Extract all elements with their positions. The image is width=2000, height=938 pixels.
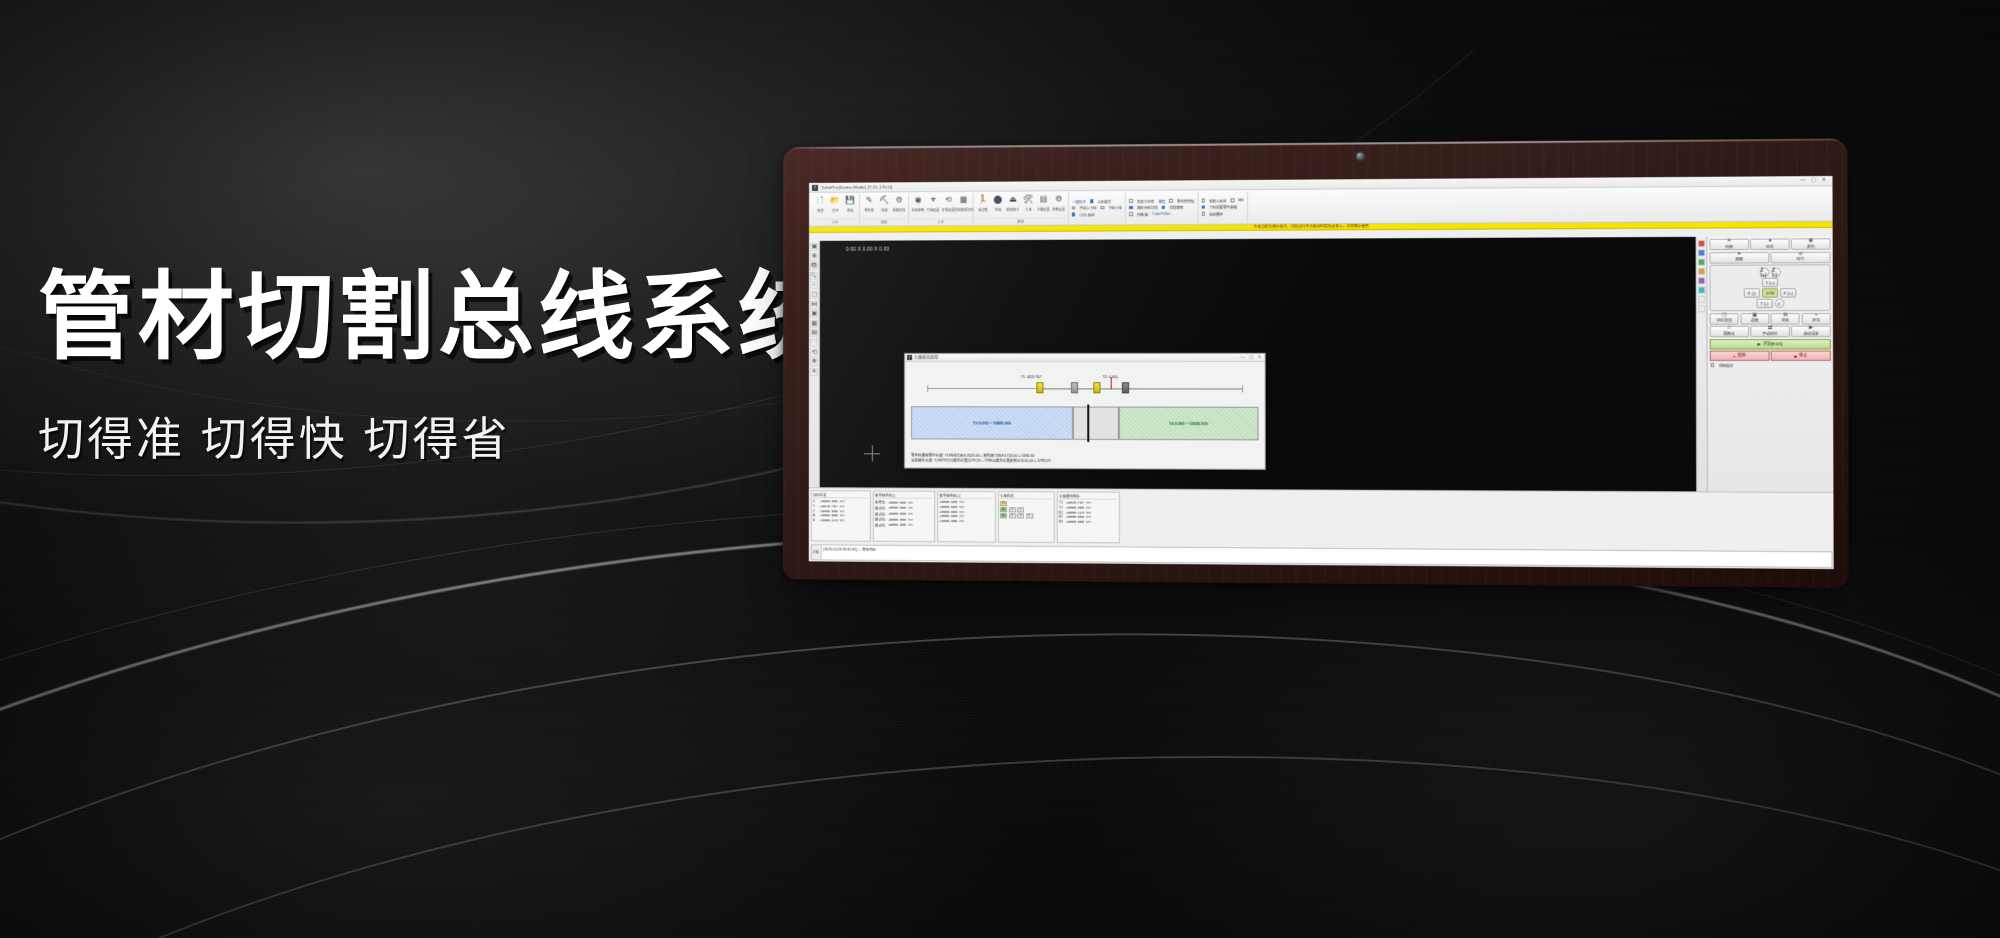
lamp-row: B1 4 C — [1000, 507, 1052, 512]
jog-row-yplus[interactable]: Y (+) — [1762, 278, 1778, 287]
gear-icon: ⚙ — [893, 194, 905, 206]
monitor-screen: T TubePro(Demo Mode) [7.21.170.0] — ▢ ✕ … — [809, 176, 1834, 569]
dialog-window-controls[interactable]: — ▢ ✕ — [1241, 355, 1263, 359]
note-line-2: 当前留针长度: Y1到Y9刀口截负位置2279.23 + Y9到山截负位置刻划从… — [911, 458, 1259, 465]
option-label: 了料后要零件使能 — [1209, 204, 1237, 209]
rotate-icon[interactable]: ⟲ — [810, 349, 818, 357]
machine-position-group: 加料位置 X +0000.000 mm Y +9620.767 mm — [810, 490, 870, 542]
axis-unit: mm — [1086, 506, 1091, 510]
ribbon-item-label: 排样 — [881, 208, 887, 213]
ribbon-item-label: 卡盘设置 — [1037, 207, 1050, 212]
axis-unit: mm — [1086, 501, 1091, 505]
jog-x-plus-button[interactable]: X (+) — [1780, 288, 1796, 297]
ribbon-option-row[interactable]: 尾料余料切割 切割跟随 — [1129, 205, 1194, 210]
checkbox-remnant-cut[interactable] — [1129, 206, 1132, 209]
ribbon-item-label: 零件库 — [864, 208, 873, 213]
ribbon-group-edit: ✎ 零件库 ⛏ 排样 ⚙ 排版切割 编辑 — [860, 193, 909, 224]
status-row: 原点位: +0000.000 mm — [875, 506, 932, 511]
auto-seek-icon: ▶ — [1809, 326, 1813, 331]
status-row: 参考位: +0000.000 mm — [875, 500, 932, 505]
ribbon-option-row[interactable]: 开单/板 TubePCNet — [1129, 211, 1194, 216]
button-label: 定位切割 — [1716, 319, 1731, 324]
axis-value: +0000.000 — [939, 519, 957, 523]
follow-button-row[interactable]: ✦ 跟随 ≋ 吹气 — [1709, 251, 1830, 263]
checkbox-ccd-calib[interactable] — [1072, 213, 1075, 216]
button-label: 跟随 — [1735, 258, 1743, 263]
mode-button-row[interactable]: ◳ 定位切割 ▣ 边框 ⊞ 空走 — [1710, 313, 1831, 325]
log-tag: 诊断 — [811, 545, 821, 559]
button-label: 自动寻参 — [1803, 332, 1818, 337]
axis-label: B — [813, 518, 818, 522]
option-label: 下料小车 — [1108, 205, 1122, 210]
axis-unit: mm — [908, 506, 913, 510]
axis-unit: mm — [908, 501, 913, 505]
axis-value: +9620.767 — [1066, 501, 1084, 505]
lamp-row: B2 4 3 C — [1000, 513, 1052, 518]
ribbon-frame-button[interactable]: 🏃 走边框 — [976, 194, 990, 212]
axis-value: +0000.000 — [1066, 506, 1084, 510]
cut-line-indicator — [1087, 404, 1089, 441]
dialog-body: Y1: 4620.767 Y2: 0.000 Y1:0.000 ~ 12885.… — [905, 362, 1265, 469]
checkbox-load-mode[interactable] — [1090, 199, 1093, 202]
axis-label: A — [813, 513, 818, 517]
ribbon-partlib-button[interactable]: ✎ 零件库 — [862, 195, 876, 213]
left-toolbar[interactable]: ▣ ✥ 👁 🔍 ○ ▢ ⋈ ▣ ▦ ▤ 🗀 ⟲ ✥ ✛ — [809, 241, 820, 487]
dryrun-button[interactable]: ⊞ 空走 — [1771, 313, 1800, 324]
jog-row-yminus[interactable]: Y (-) ⌂ — [1756, 299, 1784, 308]
button-label: 红光 — [1766, 245, 1774, 250]
axis-label: B3 — [1059, 519, 1064, 523]
pencil-icon: ✎ — [863, 195, 875, 207]
ribbon-option-row[interactable]: CCD 标定 — [1072, 212, 1122, 217]
axis-label: 原点位: — [875, 517, 886, 522]
gas-icon: ≋ — [1798, 252, 1803, 257]
option-label: BM — [1238, 198, 1243, 202]
ribbon-options-panel-1[interactable]: 一键切开 上料模式 手动上下料 下料小车 CCD 标定 — [1069, 192, 1126, 224]
lamp-row: Y1 — [1000, 501, 1052, 506]
window-controls[interactable]: — ▢ ✕ — [1800, 178, 1829, 183]
lamp-b2-b: 3 — [1017, 513, 1024, 518]
seven-axis-lamp-group: 七轴状态 Y1 B1 4 C B2 4 — [997, 491, 1054, 543]
ribbon-layoutcut-button[interactable]: ⚙ 排版切割 — [892, 194, 906, 212]
page-title: 管材切割总线系统 — [38, 268, 858, 369]
simulate-icon: ⏏ — [1007, 194, 1019, 206]
manual-locate-icon: ⇄ — [1768, 326, 1773, 331]
red-layer-swatch[interactable] — [1698, 240, 1705, 247]
axis-value: +0000.000 — [888, 523, 906, 527]
axis-unit: mm — [1086, 510, 1091, 514]
stop-button-label: 停止 — [1799, 353, 1808, 359]
stop-button[interactable]: ■ 停止 — [1771, 351, 1831, 361]
group-title: 原寻轴坐标(-) — [875, 493, 932, 500]
jog-z-up-button[interactable]: Z (+) — [1759, 268, 1769, 277]
jog-x-minus-button[interactable]: X (-) — [1744, 288, 1760, 297]
ribbon-item-label: 排版切割 — [893, 208, 906, 213]
lamp-b2-c: C — [1026, 513, 1033, 518]
ribbon-item-label: 全局参数 — [912, 207, 925, 212]
dialog-title: 七轴状态监控 — [914, 354, 938, 360]
axis-label: Y2 — [1059, 506, 1064, 510]
axis-label: 参考位: — [875, 500, 886, 505]
rect-icon[interactable]: ▢ — [810, 291, 818, 299]
option-label: 机器人标定 — [1209, 198, 1226, 203]
axis-label: X — [813, 500, 818, 504]
checkbox-open-sheet[interactable] — [1129, 212, 1132, 215]
axis-label: 原点位: — [875, 511, 886, 516]
ribbon-option-row[interactable]: 了料后要零件使能 — [1201, 204, 1243, 209]
status-row: +0000.000 mm — [939, 500, 993, 504]
button-label: 光闸 — [1725, 245, 1733, 250]
minimize-button[interactable]: — — [1800, 178, 1805, 183]
canvas-coordinates: 0.00 X 0.00 X 0.00 — [846, 247, 890, 252]
dialog-maximize-button[interactable]: ▢ — [1249, 355, 1253, 359]
ribbon-group-cnc-items[interactable]: 🏃 走边框 ⬤ 空走 ⏏ 模拟加工 — [976, 192, 1066, 217]
ribbon-group-file: 🗋 新建 📂 打开 💾 保存 文件 — [811, 194, 860, 225]
checkbox-idle-mode[interactable] — [1711, 363, 1715, 367]
axis-value: +0000.000 — [939, 500, 957, 504]
nest-icon: ⛏ — [878, 194, 890, 206]
status-bar-area: 加料位置 X +0000.000 mm Y +9620.767 mm — [809, 487, 1834, 569]
rotate-icon: ⟲ — [942, 194, 954, 206]
seven-axis-monitor-dialog[interactable]: T 七轴状态监控 — ▢ ✕ — [904, 353, 1266, 470]
folder-icon[interactable]: 🗀 — [810, 339, 818, 347]
dialog-close-button[interactable]: ✕ — [1258, 355, 1262, 359]
checkbox-part-enable[interactable] — [1201, 205, 1204, 208]
bar-gap — [1073, 406, 1118, 440]
axis-unit: mm — [959, 510, 964, 514]
start-button[interactable]: ▶ 开始[F4/5] — [1710, 339, 1831, 349]
ribbon-item-label: 新建 — [817, 208, 823, 213]
grid-icon: ▦ — [957, 194, 969, 206]
idle-mode-row[interactable]: 空转模式 — [1710, 362, 1831, 367]
red-light-icon: ● — [1768, 239, 1771, 244]
monitor-device: T TubePro(Demo Mode) [7.21.170.0] — ▢ ✕ … — [783, 147, 1811, 579]
axis-label: B1 — [1059, 510, 1064, 514]
zoom-icon[interactable]: 🔍 — [810, 272, 818, 280]
stop-icon: ■ — [1794, 353, 1797, 358]
homing-button-row[interactable]: ⎌ 回原点 ⇄ 手动定位 ▶ 自动寻参 — [1710, 326, 1831, 338]
red-light-button[interactable]: ● 红光 — [1750, 238, 1789, 250]
machine-control-panel[interactable]: ☀ 光闸 ● 红光 ◉ 激光 — [1706, 236, 1833, 492]
axis-unit: mm — [840, 500, 845, 504]
lamp-y1: Y1 — [1000, 501, 1007, 506]
status-row: +0000.000 mm — [939, 505, 993, 509]
home-icon: ⎌ — [1727, 326, 1731, 331]
new-file-icon: 🗋 — [814, 195, 826, 207]
measure-icon[interactable]: ✥ — [810, 358, 818, 366]
button-label: 边框 — [1751, 319, 1759, 324]
lamp-b1: B1 — [1000, 507, 1007, 512]
axis-track: Y1: 4620.767 Y2: 0.000 — [927, 388, 1242, 390]
positioning-cut-icon: ◳ — [1722, 313, 1727, 318]
axis-value: +0000.000 — [1066, 519, 1084, 523]
programming-link[interactable]: 编程 — [1158, 198, 1165, 203]
run-frame-icon: 🏃 — [977, 194, 989, 206]
axis-unit: mm — [908, 517, 913, 521]
ribbon-group-process-items[interactable]: ◉ 全局参数 ⌖ 引线设置 ⟲ 补偿设置 — [911, 193, 970, 218]
ribbon-group-label: 文件 — [813, 218, 857, 225]
button-label: 定位 — [1812, 319, 1820, 324]
button-label: 激光 — [1807, 244, 1815, 249]
axis-value: +0000.069 — [1066, 515, 1084, 519]
purple-layer-swatch[interactable] — [1698, 277, 1705, 284]
axis-unit: mm — [908, 512, 913, 516]
mirror-icon[interactable]: ⋈ — [810, 300, 818, 308]
cyan-layer-swatch[interactable] — [1698, 286, 1705, 293]
pause-stop-row[interactable]: ⏸ 暂停 ■ 停止 — [1710, 351, 1831, 361]
drawing-canvas[interactable]: 0.00 X 0.00 X 0.00 T 七轴状态监控 — ▢ ✕ — [820, 237, 1696, 492]
start-button-label: 开始[F4/5] — [1763, 341, 1783, 347]
checkbox-manual-load[interactable] — [1072, 206, 1075, 209]
jog-y-plus-button[interactable]: Y (+) — [1762, 278, 1778, 287]
layer-more-button[interactable] — [1698, 305, 1705, 312]
ribbon-global-params-button[interactable]: ◉ 全局参数 — [911, 194, 925, 212]
dialog-titlebar[interactable]: T 七轴状态监控 — ▢ ✕ — [905, 354, 1265, 362]
axis-value: +0000.000 — [888, 506, 906, 510]
ribbon-item-label: 打开 — [832, 208, 838, 213]
ribbon-new-button[interactable]: 🗋 新建 — [813, 195, 827, 213]
chuck-icon: ▤ — [1037, 193, 1049, 205]
shutter-icon: ☀ — [1727, 239, 1732, 244]
axis-value: +0000.000 — [820, 509, 838, 513]
group-title: 七轴通用坐标 — [1059, 493, 1117, 500]
ribbon-group-cnc: 🏃 走边框 ⬤ 空走 ⏏ 模拟加工 — [974, 192, 1069, 224]
button-label: 回原点 — [1723, 332, 1735, 337]
jog-z-down-button[interactable]: Z (-) — [1771, 268, 1781, 277]
status-row: +0000.000 mm — [939, 519, 993, 523]
option-label: CCD 标定 — [1079, 212, 1094, 217]
axis-value: +0000.000 — [888, 512, 906, 516]
node-icon[interactable]: ✥ — [810, 252, 818, 260]
checkbox-unload-cart[interactable] — [1101, 206, 1104, 209]
layer-color-toolbar[interactable] — [1696, 237, 1707, 492]
eye-icon[interactable]: 👁 — [810, 262, 818, 270]
green-layer-swatch[interactable] — [1698, 259, 1705, 266]
laser-button-row[interactable]: ☀ 光闸 ● 红光 ◉ 激光 — [1709, 238, 1830, 250]
select-icon[interactable]: ▣ — [810, 243, 818, 251]
pause-button-label: 暂停 — [1737, 353, 1746, 359]
checkbox-partlib-mgmt[interactable] — [1169, 199, 1172, 202]
axis-value: +0000.000 — [939, 514, 957, 518]
ribbon-option-row[interactable]: 自动循环 — [1201, 211, 1243, 216]
status-row: 原点位: +0000.000 mm — [875, 517, 932, 522]
ribbon-nest-button[interactable]: ⛏ 排样 — [877, 194, 891, 212]
ribbon-simulate-button[interactable]: ⏏ 模拟加工 — [1006, 194, 1020, 212]
quick-cut-link[interactable]: 一键切开 — [1072, 199, 1086, 204]
ribbon-item-label: 模拟加工 — [1007, 207, 1020, 212]
monitor-bezel: T TubePro(Demo Mode) [7.21.170.0] — ▢ ✕ … — [783, 138, 1849, 587]
ribbon-save-button[interactable]: 💾 保存 — [843, 195, 857, 213]
save-disk-icon: 💾 — [844, 195, 856, 207]
axis-coords-group: 七轴通用坐标 Y1 +9620.767 mm Y2 +0000.000 mm — [1056, 491, 1119, 543]
ribbon-option-row[interactable]: 切割工艺库 编程 零件库管理 — [1129, 198, 1194, 203]
blow-gas-button[interactable]: ≋ 吹气 — [1771, 251, 1831, 263]
ribbon-options-panel-2[interactable]: 切割工艺库 编程 零件库管理 尾料余料切割 切割跟随 — [1126, 191, 1198, 223]
axis-unit: mm — [908, 523, 913, 527]
axis-unit: mm — [959, 514, 964, 518]
layer-more-button[interactable] — [1698, 296, 1705, 303]
ribbon-tools-button[interactable]: 🛠 工具 — [1021, 194, 1035, 212]
lamp-b2-a: 4 — [1008, 513, 1015, 518]
pause-icon: ⏸ — [1733, 353, 1735, 358]
jog-control-pad[interactable]: Z (+) Z (-) Y (+) X (-) LOW X (+) — [1710, 264, 1831, 311]
jog-row-x[interactable]: X (-) LOW X (+) — [1744, 288, 1797, 297]
option-label: 自动循环 — [1209, 211, 1223, 216]
ribbon-detect-button[interactable]: ▦ 先检测后切割 — [956, 194, 970, 212]
ribbon-settings-button[interactable]: ⚙ 参数设置 — [1052, 193, 1066, 211]
open-folder-icon: 📂 — [829, 195, 841, 207]
grid-icon[interactable]: ▦ — [810, 320, 818, 328]
crop-icon[interactable]: ▣ — [810, 310, 818, 318]
shutter-button[interactable]: ☀ 光闸 — [1709, 239, 1748, 251]
marker-label-y2: Y2: 0.000 — [1103, 375, 1118, 379]
ribbon-option-row[interactable]: 手动上下料 下料小车 — [1072, 205, 1122, 210]
dryrun-icon: ⊞ — [1783, 313, 1788, 318]
axis-unit: mm — [959, 500, 964, 504]
ribbon-chuck-button[interactable]: ▤ 卡盘设置 — [1036, 193, 1050, 211]
app-title: TubePro(Demo Mode) [7.21.170.0] — [821, 184, 892, 189]
ribbon-item-label: 先检测后切割 — [954, 207, 973, 212]
checkbox-cut-library[interactable] — [1129, 199, 1132, 202]
settings-gear-icon: ⚙ — [1053, 193, 1065, 205]
button-label: 空走 — [1782, 319, 1790, 324]
work-position-group: 原寻轴坐标(+) +0000.000 mm +0000.000 mm +0000… — [937, 490, 996, 542]
status-row: X +0000.000 mm — [813, 500, 868, 504]
axis-label: 原点位: — [875, 522, 886, 527]
axis-unit: mm — [959, 519, 964, 523]
play-icon: ▶ — [1758, 341, 1761, 346]
group-title: 原寻轴坐标(+) — [939, 493, 993, 500]
ribbon-item-label: 参数设置 — [1052, 207, 1065, 212]
axis-unit: mm — [1086, 520, 1091, 524]
option-label: 切割工艺库 — [1137, 198, 1154, 203]
axis-value: +0000.113 — [1066, 510, 1084, 514]
jog-y-minus-button[interactable]: Y (-) — [1756, 299, 1772, 308]
idle-mode-label: 空转模式 — [1719, 362, 1734, 367]
bar-y2-range: Y2:0.000 ~ 10035.000 — [1118, 407, 1258, 441]
return-home-button[interactable]: ⎌ 回原点 — [1710, 326, 1749, 337]
ribbon-item-label: 保存 — [847, 208, 853, 213]
auto-seek-button[interactable]: ▶ 自动寻参 — [1791, 326, 1830, 337]
lamp-b1-a: 4 — [1008, 507, 1015, 512]
orange-layer-swatch[interactable] — [1698, 268, 1705, 275]
axis-label: Y1 — [1059, 501, 1064, 505]
axis-value: +0000.000 — [888, 500, 906, 504]
button-label: 手动定位 — [1762, 332, 1777, 337]
axis-value: +0000.000 — [820, 500, 838, 504]
axis-label: B2 — [1059, 515, 1064, 519]
tubepcnet-link[interactable]: TubePCNet — [1152, 212, 1170, 216]
bar-y1-range: Y1:0.000 ~ 12885.000 — [911, 406, 1073, 440]
axis-unit: mm — [959, 505, 964, 509]
button-label: 吹气 — [1797, 257, 1805, 262]
group-title: 加料位置 — [813, 492, 868, 499]
ribbon-dryrun-button[interactable]: ⬤ 空走 — [991, 194, 1005, 212]
laser-button[interactable]: ◉ 激光 — [1791, 238, 1830, 250]
ribbon-group-label: 工艺 — [911, 218, 970, 225]
track-tick — [1242, 385, 1243, 392]
ribbon-item-label: 引线设置 — [927, 207, 940, 212]
webcam-icon — [1357, 153, 1364, 160]
option-label: 上料模式 — [1097, 199, 1111, 204]
hero-subtitle: 切得准 切得快 切得省 — [38, 403, 858, 469]
ribbon-open-button[interactable]: 📂 打开 — [828, 195, 842, 213]
group-title: 七轴状态 — [1000, 493, 1052, 500]
option-label: 手动上下料 — [1079, 205, 1096, 210]
axis-label: Y — [813, 504, 818, 508]
checkbox-cut-follow[interactable] — [1162, 206, 1165, 209]
ribbon-group-edit-items[interactable]: ✎ 零件库 ⛏ 排样 ⚙ 排版切割 — [862, 193, 906, 218]
follow-button[interactable]: ✦ 跟随 — [1709, 252, 1769, 264]
ribbon-leadin-button[interactable]: ⌖ 引线设置 — [926, 194, 940, 212]
jog-row-top[interactable]: Z (+) Z (-) — [1759, 268, 1780, 277]
hero-copy: 管材切割总线系统 切得准 切得快 切得省 — [38, 268, 858, 469]
ribbon-toolbar[interactable]: 🗋 新建 📂 打开 💾 保存 文件 — [809, 186, 1833, 227]
ribbon-item-label: 补偿设置 — [942, 207, 955, 212]
status-row: B +0000.113 mm — [813, 518, 868, 522]
jog-low-speed-button[interactable]: LOW — [1762, 288, 1778, 297]
option-label: 零件库管理 — [1177, 198, 1194, 203]
tools-icon: 🛠 — [1022, 194, 1034, 206]
marker-label-y1: Y1: 4620.767 — [1021, 375, 1041, 379]
close-button[interactable]: ✕ — [1822, 178, 1827, 183]
checkbox-robot-calib[interactable] — [1201, 199, 1204, 202]
chuck-y1 — [1037, 382, 1044, 393]
ribbon-group-label: 数控 — [976, 217, 1066, 224]
checkbox-auto-cycle[interactable] — [1201, 212, 1204, 215]
lamp-b1-c: C — [1017, 507, 1024, 512]
maximize-button[interactable]: ▢ — [1811, 178, 1816, 183]
ribbon-options-panel-3[interactable]: 机器人标定 BM 了料后要零件使能 自动循环 — [1198, 191, 1247, 223]
app-icon: T — [812, 184, 818, 190]
layer-icon[interactable]: ▤ — [810, 329, 818, 337]
axis-value: +0000.000 — [888, 517, 906, 521]
chuck-mid — [1071, 382, 1078, 393]
circle-icon[interactable]: ○ — [810, 281, 818, 289]
pan-icon[interactable]: ✛ — [810, 368, 818, 376]
status-row: 原点位: +0000.000 mm — [875, 522, 932, 527]
ribbon-item-label: 工具 — [1025, 207, 1031, 212]
ribbon-option-row[interactable]: 一键切开 上料模式 — [1072, 199, 1122, 204]
tubepro-application: T TubePro(Demo Mode) [7.21.170.0] — ▢ ✕ … — [809, 176, 1834, 569]
status-grid: 加料位置 X +0000.000 mm Y +9620.767 mm — [809, 488, 1834, 549]
prog-position-group: 原寻轴坐标(-) 参考位: +0000.000 mm 原点位: +0000.00… — [872, 490, 934, 542]
target-icon: ◉ — [912, 194, 924, 206]
ribbon-group-file-items[interactable]: 🗋 新建 📂 打开 💾 保存 — [813, 194, 857, 219]
jog-home-button[interactable]: ⌂ — [1774, 299, 1784, 308]
chuck-y2 — [1093, 382, 1100, 393]
locate-button[interactable]: ⌁ 定位 — [1802, 313, 1831, 324]
ribbon-option-row[interactable]: 机器人标定 BM — [1201, 198, 1243, 203]
chuck-fixed — [1121, 382, 1128, 393]
dialog-minimize-button[interactable]: — — [1241, 355, 1246, 359]
positioning-cut-button[interactable]: ◳ 定位切割 — [1710, 313, 1739, 324]
checkbox-bm[interactable] — [1231, 199, 1234, 202]
blue-layer-swatch[interactable] — [1698, 249, 1705, 256]
pause-button[interactable]: ⏸ 暂停 — [1710, 351, 1770, 361]
origin-crosshair-icon — [864, 445, 880, 461]
status-row: 原点位: +0000.000 mm — [875, 511, 932, 516]
dialog-notes: 零件料最短零件长度: Y1到闭刀具从1520.00 + 刻划闭刀具从1740.0… — [911, 453, 1259, 465]
axis-unit: mm — [840, 514, 845, 518]
axis-value: +0000.000 — [820, 513, 838, 517]
axis-value: +0000.000 — [939, 505, 957, 509]
locate-icon: ⌁ — [1815, 313, 1818, 318]
crosshair-icon: ⌖ — [927, 194, 939, 206]
ribbon-item-label: 空走 — [995, 207, 1001, 212]
frame-button[interactable]: ▣ 边框 — [1740, 313, 1769, 324]
manual-locate-button[interactable]: ⇄ 手动定位 — [1750, 326, 1789, 337]
